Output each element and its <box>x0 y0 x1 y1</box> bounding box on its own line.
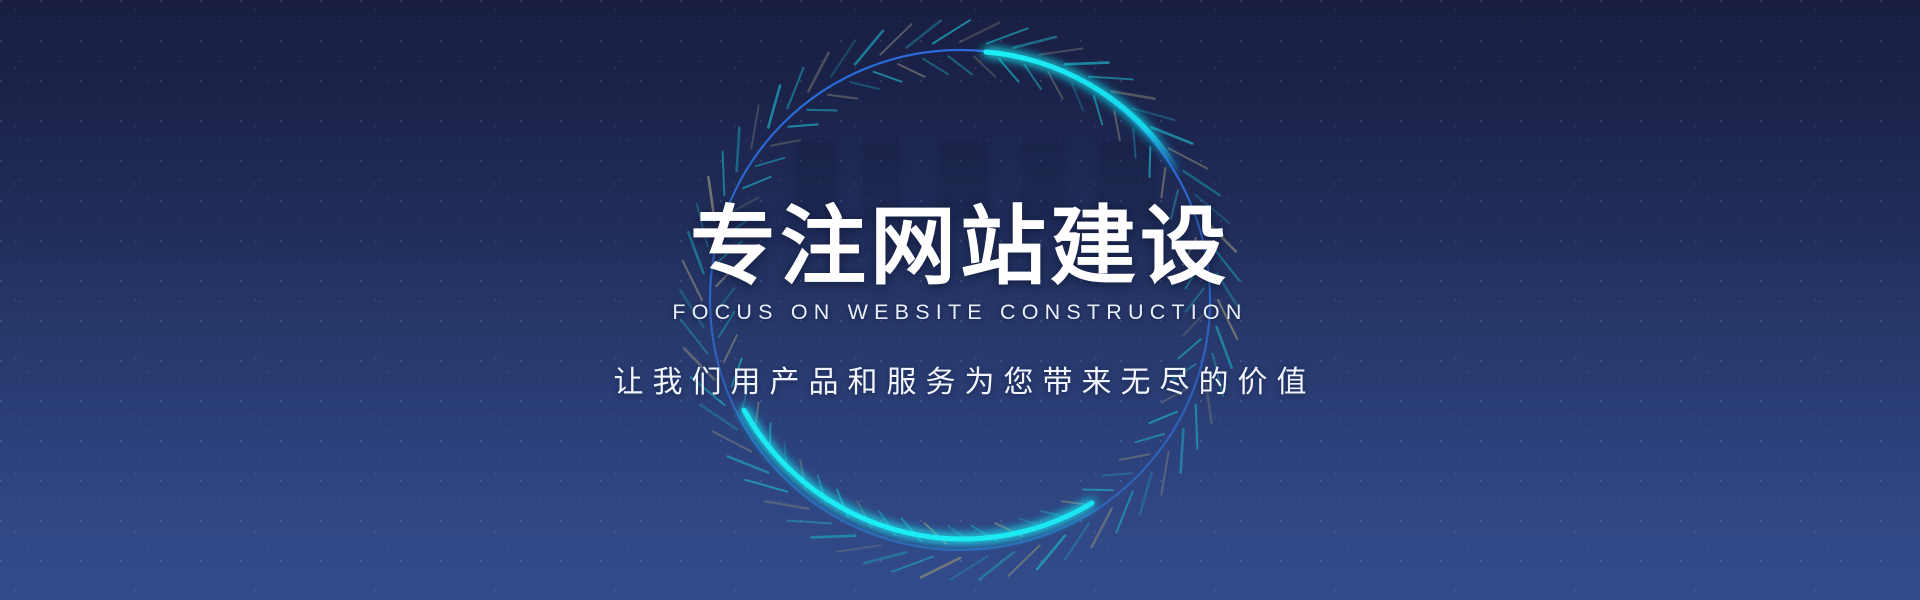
banner-tagline: 让我们用产品和服务为您带来无尽的价值 <box>605 357 1316 401</box>
hero-banner: 专注网站建设 FOCUS ON WEBSITE CONSTRUCTION 让我们… <box>0 0 1920 600</box>
banner-subtitle: FOCUS ON WEBSITE CONSTRUCTION <box>672 300 1247 325</box>
banner-copy: 专注网站建设 FOCUS ON WEBSITE CONSTRUCTION 让我们… <box>0 0 1920 600</box>
page-title: 专注网站建设 <box>690 204 1230 290</box>
